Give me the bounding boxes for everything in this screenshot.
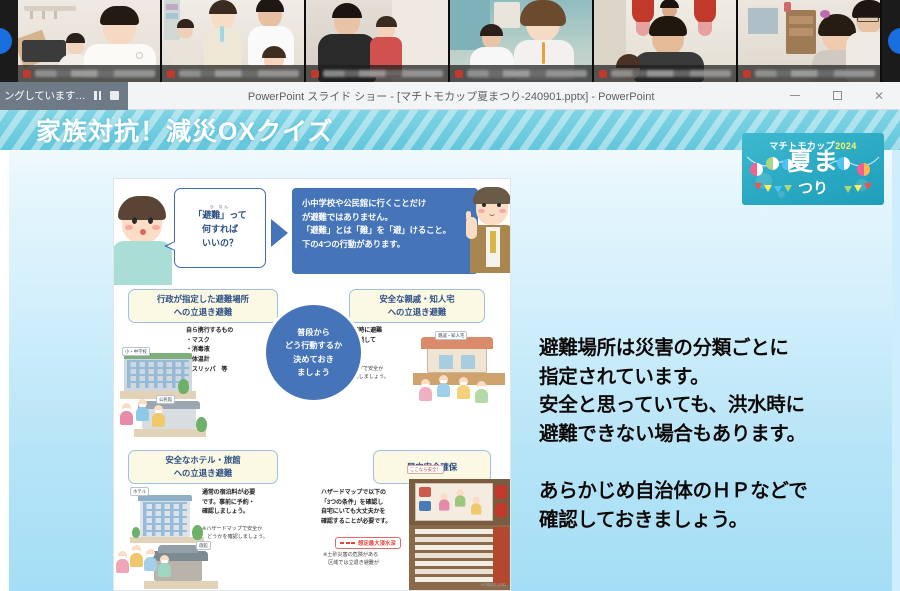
recording-label: ングしています… (4, 88, 85, 103)
slide-right-margin (892, 110, 900, 591)
infographic-credit: ※内閣府防災資料 (481, 584, 506, 589)
center-message-circle: 普段から どう行動するか 決めておき ましょう (266, 305, 361, 400)
hotel-illustration: ホテル (130, 487, 204, 543)
flood-depth-tag: 想定最大浸水深 (335, 531, 401, 549)
participant-name-bar (594, 65, 736, 82)
participant-name-blurred (611, 70, 731, 77)
infographic-header: ひ なん 「避難」って 何すれば いいの？ 小中学校や公民館に行くことだけ が避… (114, 179, 511, 287)
quad-label: 行政が指定した避難場所 への立退き避難 (128, 289, 278, 323)
participant-name-blurred (323, 70, 443, 77)
slide-left-margin (0, 110, 9, 591)
dashed-line-icon (340, 542, 355, 544)
strip-scroll-right[interactable] (882, 0, 900, 82)
microphone-muted-icon (455, 70, 463, 78)
quad-note-text: ※土砂災害の危険がある 区域では立退き避難が (323, 551, 379, 568)
community-center-tag: 公民館 (156, 395, 175, 404)
scroll-left-nub[interactable] (0, 28, 12, 54)
participant-name-bar (306, 65, 448, 82)
school-building-illustration: 小・中学校 (120, 347, 196, 399)
scroll-right-nub[interactable] (888, 28, 900, 54)
participant-tile[interactable] (162, 0, 306, 82)
quad-label: 安全なホテル・旅館 への立退き避難 (128, 450, 278, 484)
video-conference-strip (0, 0, 900, 82)
participant-tile[interactable] (306, 0, 450, 82)
indoor-safety-illustration: ここなら安全！ (409, 479, 511, 591)
logo-natsu-matsuri: 夏まつり (742, 151, 884, 197)
hotel-tag: ホテル (130, 487, 149, 496)
quad-note-text: ※ハザードマップで安全か どうかを確認しましょう。 (202, 525, 268, 542)
relative-house-tag: 親戚・知人宅 (435, 331, 467, 340)
relative-house-illustration: 親戚・知人宅 (413, 331, 505, 431)
microphone-muted-icon (311, 70, 319, 78)
window-title: PowerPoint スライド ショー - [マチトモカップ夏まつり-24090… (128, 88, 774, 104)
quad-body-text: 通常の宿泊料が必要 です。事前に予約・ 確認しましょう。 (202, 489, 255, 518)
participant-tile[interactable] (450, 0, 594, 82)
pause-icon[interactable] (94, 91, 101, 100)
participant-tile[interactable] (738, 0, 882, 82)
event-logo: マチトモカップ2024 夏まつり (742, 133, 884, 205)
answer-text: 小中学校や公民館に行くことだけ が避難ではありません。 「避難」とは「難」を「避… (302, 197, 469, 251)
participant-name-blurred (467, 70, 587, 77)
minimize-button[interactable] (774, 82, 816, 110)
participant-tile[interactable] (18, 0, 162, 82)
participant-name-bar (18, 65, 160, 82)
strip-scroll-left[interactable] (0, 0, 18, 82)
window-controls: ✕ (774, 82, 900, 110)
page-title: 家族対抗！減災OXクイズ (36, 112, 333, 148)
recording-indicator[interactable]: ングしています… (0, 82, 128, 110)
quad-bottom-left: 安全なホテル・旅館 への立退き避難 通常の宿泊料が必要 です。事前に予約・ 確認… (114, 439, 313, 591)
stop-icon[interactable] (110, 91, 119, 100)
evacuation-infographic[interactable]: ひ なん 「避難」って 何すれば いいの？ 小中学校や公民館に行くことだけ が避… (113, 178, 511, 591)
participant-name-bar (738, 65, 880, 82)
arrow-right-icon (271, 219, 288, 247)
powerpoint-title-bar: ングしています… PowerPoint スライド ショー - [マチトモカップ夏… (0, 82, 900, 110)
ryokan-tag: 旅館 (196, 541, 211, 550)
presentation-slide[interactable]: 家族対抗！減災OXクイズ マチトモカップ2024 夏まつり (0, 110, 900, 591)
school-tag: 小・中学校 (122, 347, 150, 356)
quad-bottom-right: 屋内安全確保 ハザードマップで以下の 「3つの条件」を確認し 自宅にいても大丈夫… (313, 439, 511, 591)
microphone-muted-icon (23, 70, 31, 78)
question-text: 「避難」って 何すれば いいの？ (193, 209, 247, 251)
participant-name-blurred (35, 70, 155, 77)
participant-tile[interactable] (594, 0, 738, 82)
answer-speech-bubble: 小中学校や公民館に行くことだけ が避難ではありません。 「避難」とは「難」を「避… (292, 188, 478, 274)
slide-body-text: 避難場所は災害の分類ごとに 指定されています。 安全と思っていても、洪水時に 避… (539, 334, 889, 535)
microphone-muted-icon (743, 70, 751, 78)
question-speech-bubble: ひ なん 「避難」って 何すれば いいの？ (174, 188, 266, 268)
quad-label: 安全な親戚・知人宅 への立退き避難 (349, 289, 485, 323)
participant-name-blurred (179, 70, 299, 77)
microphone-muted-icon (167, 70, 175, 78)
close-button[interactable]: ✕ (858, 82, 900, 110)
safe-here-tag: ここなら安全！ (407, 465, 444, 474)
quad-body-text: ハザードマップで以下の 「3つの条件」を確認し 自宅にいても大丈夫かを 確認する… (321, 489, 391, 528)
microphone-muted-icon (599, 70, 607, 78)
participant-name-bar (162, 65, 304, 82)
participant-name-bar (450, 65, 592, 82)
participant-name-blurred (755, 70, 875, 77)
teacher-illustration (472, 187, 511, 285)
maximize-button[interactable] (816, 82, 858, 110)
